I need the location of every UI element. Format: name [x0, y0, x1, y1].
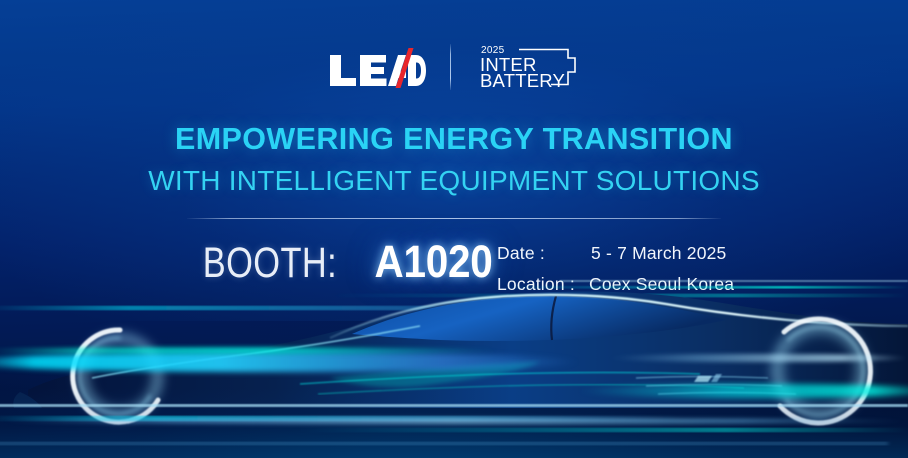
motion-streak-ground [0, 418, 908, 424]
motion-streak-right-2 [608, 354, 908, 362]
logo-separator [450, 44, 451, 90]
event-details: Date : 5 - 7 March 2025 Location : Coex … [497, 238, 734, 300]
booth-number: A1020 [374, 236, 492, 288]
booth-block: BOOTH: A1020 [186, 236, 499, 288]
logo-row: 2025 INTER BATTERY [0, 38, 908, 96]
motion-streak-secondary [0, 347, 500, 354]
rear-wheel [768, 318, 872, 423]
headline-line-1: EMPOWERING ENERGY TRANSITION [0, 124, 908, 155]
svg-text:BATTERY: BATTERY [480, 70, 565, 91]
detail-row-date: Date : 5 - 7 March 2025 [497, 238, 734, 269]
motion-streak-main [0, 352, 580, 372]
section-divider [187, 218, 721, 219]
date-label: Date : [497, 238, 589, 269]
car-body [13, 291, 908, 408]
interbattery-logo: 2025 INTER BATTERY [475, 42, 581, 92]
booth-label: BOOTH: [203, 239, 337, 288]
location-label: Location : [497, 269, 589, 300]
car-body-marking [694, 374, 722, 382]
headline-line-2: WITH INTELLIGENT EQUIPMENT SOLUTIONS [0, 167, 908, 195]
lead-logo [328, 45, 426, 89]
front-wheel [73, 330, 166, 422]
background-glow-bottom [0, 275, 908, 458]
headline: EMPOWERING ENERGY TRANSITION WITH INTELL… [0, 124, 908, 195]
motion-streak-right [578, 384, 908, 398]
ground-glow [0, 388, 908, 458]
car-artwork [0, 258, 908, 458]
event-banner: 2025 INTER BATTERY EMPOWERING ENERGY TRA… [0, 0, 908, 458]
detail-row-location: Location : Coex Seoul Korea [497, 269, 734, 300]
location-value: Coex Seoul Korea [589, 269, 734, 300]
date-value: 5 - 7 March 2025 [589, 238, 727, 269]
